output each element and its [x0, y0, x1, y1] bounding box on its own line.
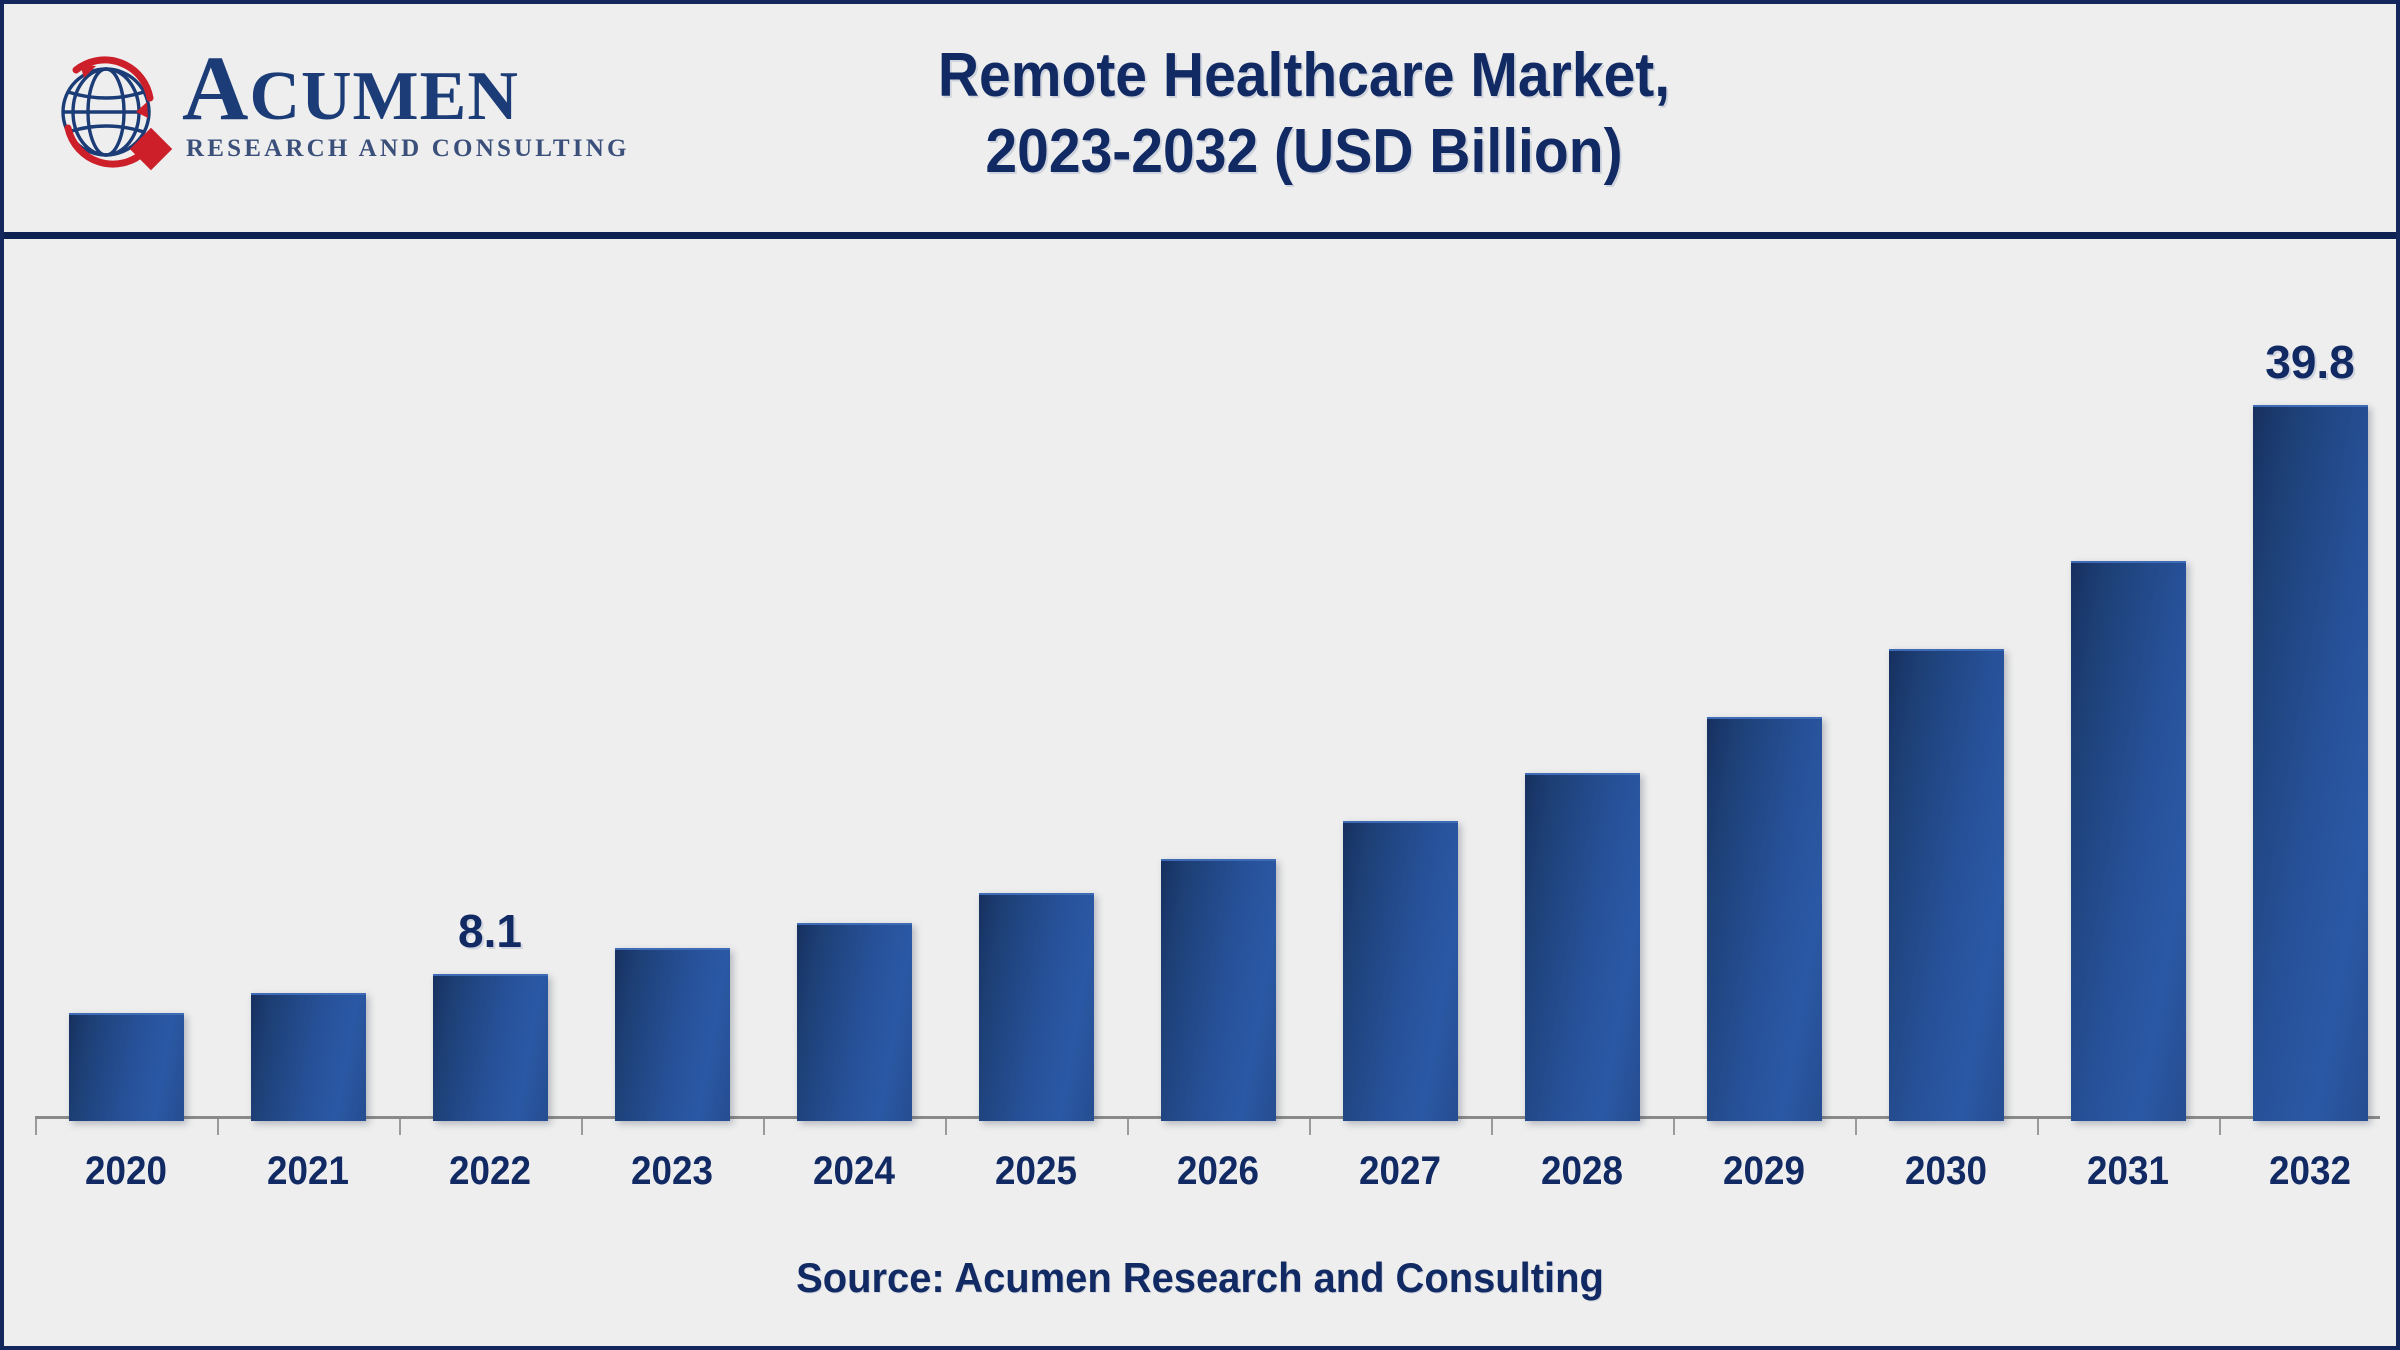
bar-2023 — [615, 948, 730, 1121]
bar-2027 — [1343, 821, 1458, 1121]
bar-2030 — [1889, 649, 2004, 1121]
bar-2029 — [1707, 717, 1822, 1121]
title-line-1: Remote Healthcare Market, — [697, 38, 1911, 114]
x-tick-label-2021: 2021 — [207, 1149, 409, 1194]
x-tick-label-2023: 2023 — [571, 1149, 773, 1194]
acumen-logo: ACUMEN RESEARCH AND CONSULTING — [40, 34, 550, 194]
x-tick-2028 — [1491, 1119, 1493, 1135]
x-tick-2032 — [2219, 1119, 2221, 1135]
bar-2021 — [251, 993, 366, 1121]
bar-2024 — [797, 923, 912, 1121]
logo-tagline: RESEARCH AND CONSULTING — [182, 135, 630, 163]
x-tick-2021 — [217, 1119, 219, 1135]
x-tick-label-2031: 2031 — [2027, 1149, 2229, 1194]
bar-2020 — [69, 1013, 184, 1121]
bar-2022 — [433, 974, 548, 1121]
x-tick-2029 — [1673, 1119, 1675, 1135]
logo-wordmark: ACUMEN RESEARCH AND CONSULTING — [182, 52, 630, 163]
x-tick-2030 — [1855, 1119, 1857, 1135]
bar-2026 — [1161, 859, 1276, 1121]
x-tick-label-2029: 2029 — [1663, 1149, 1865, 1194]
x-tick-label-2026: 2026 — [1117, 1149, 1319, 1194]
x-tick-label-2032: 2032 — [2209, 1149, 2400, 1194]
x-tick-label-2030: 2030 — [1845, 1149, 2047, 1194]
x-tick-2024 — [763, 1119, 765, 1135]
x-tick-2027 — [1309, 1119, 1311, 1135]
bar-2028 — [1525, 773, 1640, 1121]
x-tick-2026 — [1127, 1119, 1129, 1135]
x-tick-label-2024: 2024 — [753, 1149, 955, 1194]
value-label-2032: 39.8 — [2180, 335, 2400, 389]
title-line-2: 2023-2032 (USD Billion) — [697, 114, 1911, 190]
bar-2031 — [2071, 561, 2186, 1121]
logo-name-initial: A — [182, 37, 249, 139]
chart-card: ACUMEN RESEARCH AND CONSULTING Remote He… — [0, 0, 2400, 1350]
value-label-2022: 8.1 — [360, 904, 620, 958]
x-tick-2022 — [399, 1119, 401, 1135]
logo-name: ACUMEN — [182, 52, 630, 133]
x-tick-label-2027: 2027 — [1299, 1149, 1501, 1194]
bar-2032 — [2253, 405, 2368, 1121]
bar-chart: 2020202120222023202420252026202720282029… — [4, 239, 2396, 1350]
x-tick-2025 — [945, 1119, 947, 1135]
page-title: Remote Healthcare Market, 2023-2032 (USD… — [697, 38, 1911, 190]
x-tick-2020 — [35, 1119, 37, 1135]
header-divider — [4, 232, 2396, 239]
x-tick-2023 — [581, 1119, 583, 1135]
x-tick-2031 — [2037, 1119, 2039, 1135]
source-note: Source: Acumen Research and Consulting — [64, 1254, 2336, 1302]
x-tick-label-2025: 2025 — [935, 1149, 1137, 1194]
card-header: ACUMEN RESEARCH AND CONSULTING Remote He… — [4, 4, 2396, 232]
x-tick-label-2022: 2022 — [389, 1149, 591, 1194]
x-tick-label-2028: 2028 — [1481, 1149, 1683, 1194]
globe-icon — [40, 42, 180, 182]
bar-2025 — [979, 893, 1094, 1121]
x-tick-label-2020: 2020 — [25, 1149, 227, 1194]
logo-name-rest: CUMEN — [249, 58, 518, 135]
